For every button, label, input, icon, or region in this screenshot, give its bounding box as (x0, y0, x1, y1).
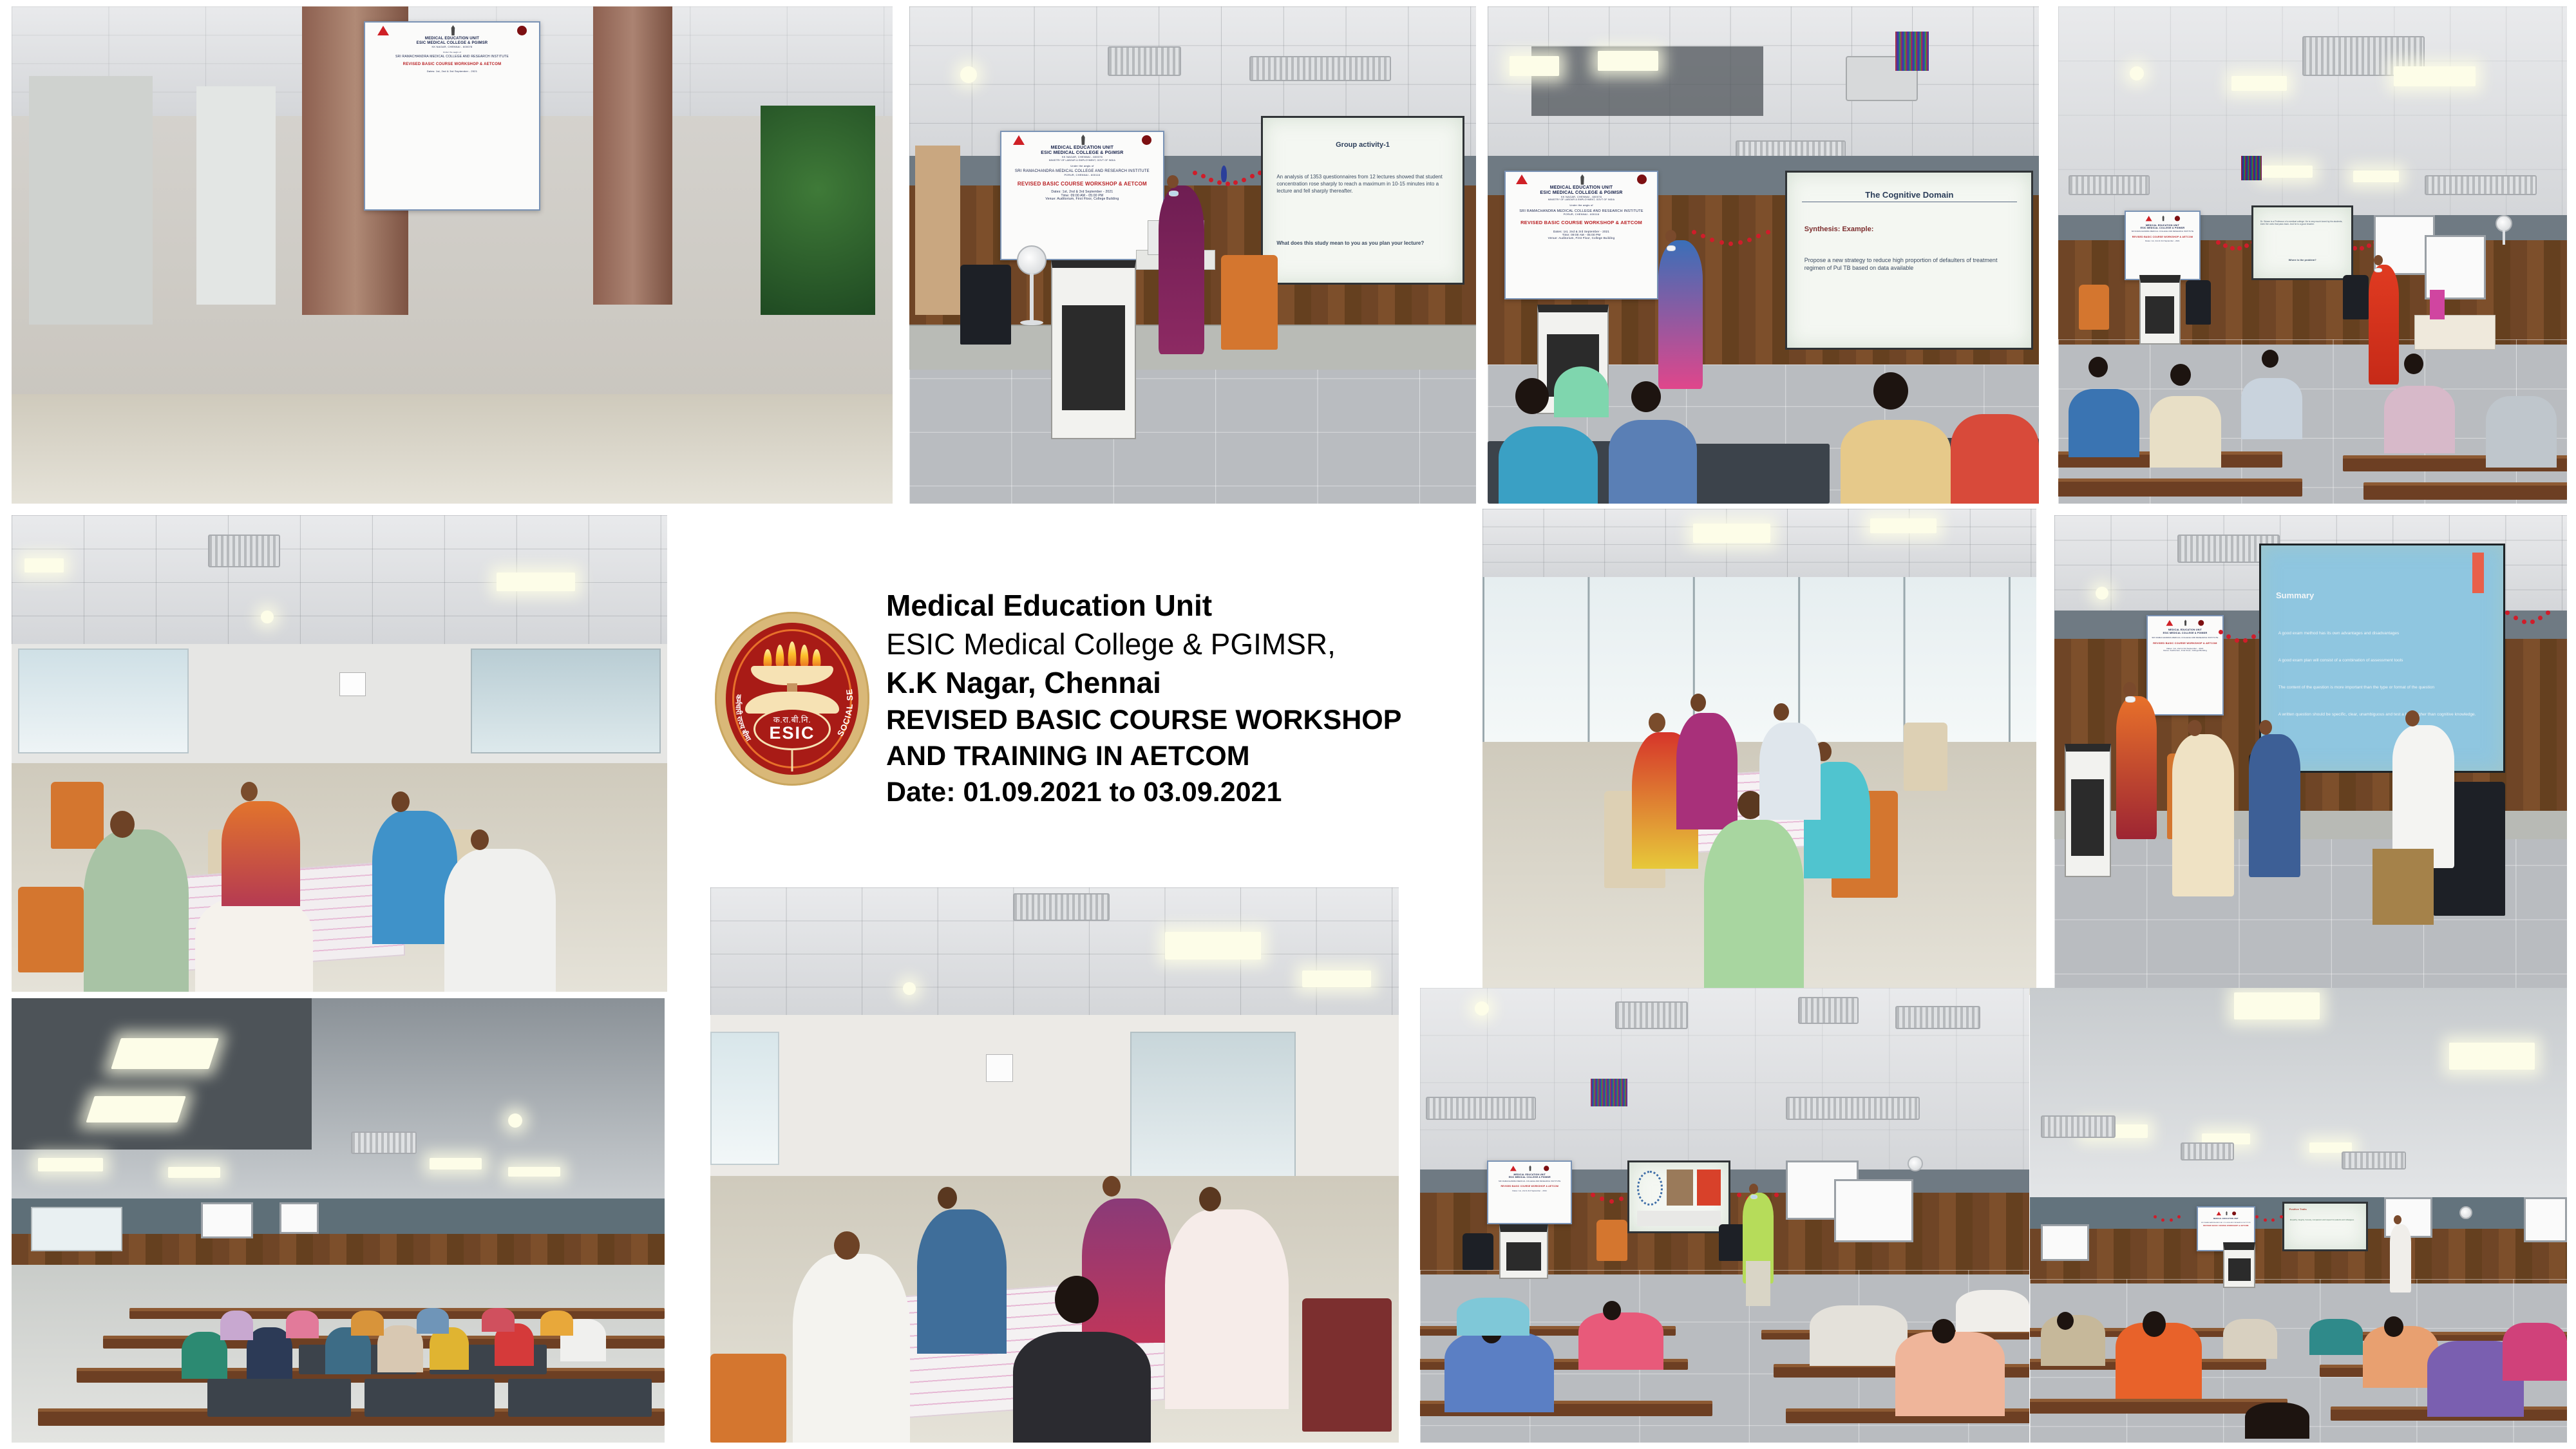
slide-title: Positive Traits (2289, 1207, 2307, 1211)
banner-title-1: MEDICAL EDUCATION UNIT (1003, 146, 1161, 151)
banner-host: SRI RAMACHANDRA MEDICAL COLLEGE AND RESE… (2149, 637, 2221, 639)
banner-venue: Venue: Auditorium, First Floor, College … (1508, 236, 1656, 240)
projection-screen (1627, 1160, 1731, 1233)
projection-screen: Positive Traits Empathy, integrity, hone… (2282, 1202, 2368, 1252)
slide-title: Summary (2276, 591, 2314, 600)
banner-event-title: REVISED BASIC COURSE WORKSHOP & AETCOM (1490, 1186, 1569, 1188)
banner-dates: Dates: 1st, 2nd & 3rd September - 2021 (367, 70, 537, 73)
slide-subtitle: Synthesis: Example: (1804, 225, 2014, 234)
banner-event-title: REVISED BASIC COURSE WORKSHOP & AETCOM (2127, 236, 2199, 238)
banner-host: SRI RAMACHANDRA MEDICAL COLLEGE AND RESE… (2127, 231, 2199, 233)
event-banner: MEDICAL EDUCATION UNIT ESIC MEDICAL COLL… (1487, 1160, 1572, 1224)
slide-bullet-3: The content of the question is more impo… (2278, 685, 2486, 691)
banner-aegis: Under the aegis of (1003, 165, 1161, 168)
banner-ministry: MINISTRY OF LABOUR & EMPLOYMENT, GOVT OF… (1003, 159, 1161, 162)
photo-lecture-hall-speaker: MEDICAL EDUCATION UNIT ESIC MEDICAL COLL… (2058, 6, 2567, 504)
photo-group-portrait: MEDICAL EDUCATION UNIT ESIC MEDICAL COLL… (12, 6, 893, 504)
banner-host: SRI RAMACHANDRA MEDICAL COLLEGE AND RESE… (1490, 1181, 1569, 1183)
slide-bullet: Propose a new strategy to reduce high pr… (1804, 256, 2014, 272)
slide-title: Group activity-1 (1274, 141, 1451, 149)
banner-title-2: ESIC MEDICAL COLLEGE & PGIMSR (2149, 632, 2221, 634)
banner-host-address: PORUR, CHENNAI - 600116 (1003, 174, 1161, 177)
slide-bullet-1: A good exam method has its own advantage… (2278, 631, 2486, 637)
svg-text:कर्मचारी राज्य बीमा: कर्मचारी राज्य बीमा (734, 694, 752, 744)
title-line-1: Medical Education Unit (886, 587, 1417, 625)
title-line-2: ESIC Medical College & PGIMSR, (886, 625, 1417, 664)
banner-venue: Venue: Auditorium, First Floor, College … (2149, 650, 2221, 652)
banner-address: KK NAGAR, CHENNAI - 600078 (367, 46, 537, 49)
title-line-3: K.K Nagar, Chennai (886, 664, 1417, 703)
photo-cognitive-domain-session: MEDICAL EDUCATION UNIT ESIC MEDICAL COLL… (1488, 6, 2039, 504)
photo-podium-group-activity: MEDICAL EDUCATION UNIT ESIC MEDICAL COLL… (909, 6, 1476, 504)
slide-bullet-2: A good exam plan will consist of a combi… (2278, 658, 2486, 664)
banner-venue: Venue: Auditorium, First Floor, College … (1003, 198, 1161, 202)
banner-dates: Dates: 1st, 2nd & 3rd September - 2021 (2127, 241, 2199, 243)
title-line-4: REVISED BASIC COURSE WORKSHOP (886, 703, 1417, 739)
logo-arc-text: SOCIAL SECURITY कर्मचारी राज्य बीमा (715, 612, 869, 786)
projection-screen: Group activity-1 An analysis of 1353 que… (1261, 116, 1465, 285)
banner-title-1: MEDICAL EDUCATION UNIT (367, 37, 537, 41)
banner-event-title: REVISED BASIC COURSE WORKSHOP & AETCOM (1508, 220, 1656, 226)
banner-aegis: Under the aegis of (1508, 204, 1656, 207)
banner-host: SRI RAMACHANDRA MEDICAL COLLEGE AND RESE… (367, 55, 537, 59)
banner-title-2: ESIC MEDICAL COLLEGE & PGIMSR (1490, 1177, 1569, 1179)
photo-small-group-discussion-right (1482, 509, 2036, 995)
banner-title-1: MEDICAL EDUCATION UNIT (1508, 185, 1656, 191)
event-title-block: Medical Education Unit ESIC Medical Coll… (886, 587, 1417, 810)
event-banner: MEDICAL EDUCATION UNIT ESIC MEDICAL COLL… (1000, 131, 1164, 260)
banner-dates: Dates: 1st, 2nd & 3rd September - 2021 (1490, 1191, 1569, 1193)
banner-event-title: REVISED BASIC COURSE WORKSHOP & AETCOM (2199, 1226, 2254, 1227)
banner-event-title: REVISED BASIC COURSE WORKSHOP & AETCOM (367, 62, 537, 67)
title-line-6: Date: 01.09.2021 to 03.09.2021 (886, 775, 1417, 811)
title-line-5: AND TRAINING IN AETCOM (886, 739, 1417, 775)
banner-event-title: REVISED BASIC COURSE WORKSHOP & AETCOM (2149, 642, 2221, 645)
banner-aegis: Under the aegis of (367, 52, 537, 53)
banner-host-address: PORUR, CHENNAI - 600116 (1508, 213, 1656, 216)
slide-body: Empathy, integrity, honesty, compassion … (2290, 1219, 2361, 1222)
slide-body: An analysis of 1353 questionnaires from … (1276, 174, 1448, 194)
slide-bullet-4: A written question should be specific, c… (2278, 712, 2486, 718)
esic-logo-icon: क.रा.बी.नि. ESIC SOCIAL SECURITY कर्मचार… (715, 612, 869, 786)
photo-auditorium-wide-left (12, 998, 665, 1443)
photo-auditorium-wide-right: MEDICAL EDUCATION UNIT SRI RAMACHANDRA M… (2030, 988, 2567, 1443)
photo-collage: MEDICAL EDUCATION UNIT ESIC MEDICAL COLL… (0, 0, 2576, 1449)
photo-small-group-discussion-left (12, 515, 667, 992)
banner-event-title: REVISED BASIC COURSE WORKSHOP & AETCOM (1003, 181, 1161, 187)
podium (1051, 260, 1136, 439)
slide-text: Dr. Sriram is a Professor of a medical c… (2260, 220, 2345, 226)
banner-host: SRI RAMACHANDRA MEDICAL COLLEGE AND RESE… (2199, 1222, 2254, 1224)
slide-question: Where is the problem? (2260, 258, 2345, 261)
slide-title: The Cognitive Domain (1802, 190, 2017, 202)
banner-ministry: MINISTRY OF LABOUR & EMPLOYMENT, GOVT OF… (1508, 198, 1656, 201)
event-banner: MEDICAL EDUCATION UNIT ESIC MEDICAL COLL… (1504, 171, 1659, 300)
photo-group-work-flipchart (710, 887, 1399, 1443)
event-banner: MEDICAL EDUCATION UNIT ESIC MEDICAL COLL… (2146, 615, 2223, 715)
photo-presenter-with-whiteboard: MEDICAL EDUCATION UNIT ESIC MEDICAL COLL… (1420, 988, 2029, 1443)
projection-screen: The Cognitive Domain Synthesis: Example:… (1785, 171, 2033, 350)
projection-screen: Dr. Sriram is a Professor of a medical c… (2251, 205, 2353, 280)
photo-summary-session: MEDICAL EDUCATION UNIT ESIC MEDICAL COLL… (2054, 515, 2567, 992)
banner-title-2: ESIC MEDICAL COLLEGE & PGIMSR (2127, 227, 2199, 229)
centre-title-panel: क.रा.बी.नि. ESIC SOCIAL SECURITY कर्मचार… (702, 515, 1417, 882)
projection-screen: Summary A good exam method has its own a… (2259, 544, 2505, 772)
banner-title-1: MEDICAL EDUCATION UNIT (2199, 1218, 2254, 1220)
event-banner: MEDICAL EDUCATION UNIT ESIC MEDICAL COLL… (2125, 211, 2201, 280)
event-banner: MEDICAL EDUCATION UNIT ESIC MEDICAL COLL… (364, 21, 540, 210)
slide-question: What does this study mean to you as you … (1276, 240, 1448, 247)
